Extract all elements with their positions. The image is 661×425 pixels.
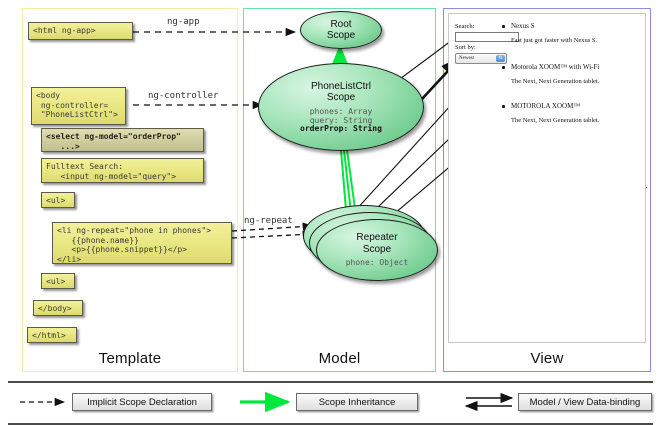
scope-phonelistctrl-title-2: Scope [327,92,355,104]
bullet-icon [502,66,505,69]
scope-phonelistctrl-props-bold: orderProp: String [300,124,382,133]
template-box-ul-open: <ul> [41,192,75,208]
legend-item-model-view-data-binding: Model / View Data-binding [518,393,652,411]
view-sort-select[interactable]: Newest ⇅ [455,53,507,64]
view-phone-item-3[interactable]: MOTOROLA XOOM™ The Next, Next Generation… [511,102,643,125]
view-search-label: Search: [455,23,475,30]
view-phone-snippet: Fast just got faster with Nexus S. [511,36,643,45]
template-box-select-orderprop: <select ng-model="orderProp" ...> [41,128,204,152]
view-phone-name: Nexus S [511,22,643,31]
template-box-body-close: </body> [33,300,83,316]
template-box-html-close: </html> [27,327,77,343]
template-box-ul-close: <ul> [41,273,75,289]
view-sort-label: Sort by: [455,44,476,51]
view-rendered-app: Search: Sort by: Newest ⇅ Nexus S Fast j… [448,13,646,343]
edge-label-ng-repeat: ng-repeat [244,216,293,226]
view-search-input[interactable] [455,32,519,42]
view-sort-select-value: Newest [459,56,474,61]
scope-repeater: Repeater Scope phone: Object [316,219,438,281]
legend: Implicit Scope Declaration Scope Inherit… [0,381,661,425]
scope-phonelistctrl: PhoneListCtrl Scope phones: Array query:… [258,63,424,151]
scope-repeater-title-2: Scope [363,244,391,256]
scope-repeater-title-1: Repeater [356,232,397,244]
scope-phonelistctrl-title-1: PhoneListCtrl [311,81,371,93]
template-box-html-tag: <html ng-app> [28,22,133,40]
legend-item-scope-inheritance: Scope Inheritance [296,393,418,411]
scope-repeater-props: phone: Object [346,258,409,267]
diagram-canvas: Template Model View [0,0,661,425]
scope-root-title-2: Scope [327,30,355,42]
legend-item-implicit-scope-declaration: Implicit Scope Declaration [72,393,212,411]
edge-label-ng-controller: ng-controller [148,91,218,101]
view-phone-name: Motorola XOOM™ with Wi-Fi [511,63,643,72]
bullet-icon [502,25,505,28]
view-phone-item-1[interactable]: Nexus S Fast just got faster with Nexus … [511,22,643,45]
view-phone-snippet: The Next, Next Generation tablet. [511,77,643,86]
view-phone-item-2[interactable]: Motorola XOOM™ with Wi-Fi The Next, Next… [511,63,643,86]
scope-phonelistctrl-props-plain: phones: Array query: String [310,107,373,125]
edge-label-ng-app: ng-app [167,17,200,27]
template-box-fulltext-search: Fulltext Search: <input ng-model="query"… [41,158,204,183]
template-box-body-controller-tag: <body ng-controller= "PhoneListCtrl"> [31,87,126,125]
scope-root: Root Scope [300,11,382,49]
view-phone-snippet: The Next, Next Generation tablet. [511,116,643,125]
view-phone-name: MOTOROLA XOOM™ [511,102,643,111]
chevron-updown-icon: ⇅ [496,55,505,62]
scope-root-title-1: Root [330,19,351,31]
bullet-icon [502,105,505,108]
edge-ng-repeat [232,226,312,238]
template-box-li-ng-repeat: <li ng-repeat="phone in phones"> {{phone… [52,222,232,264]
